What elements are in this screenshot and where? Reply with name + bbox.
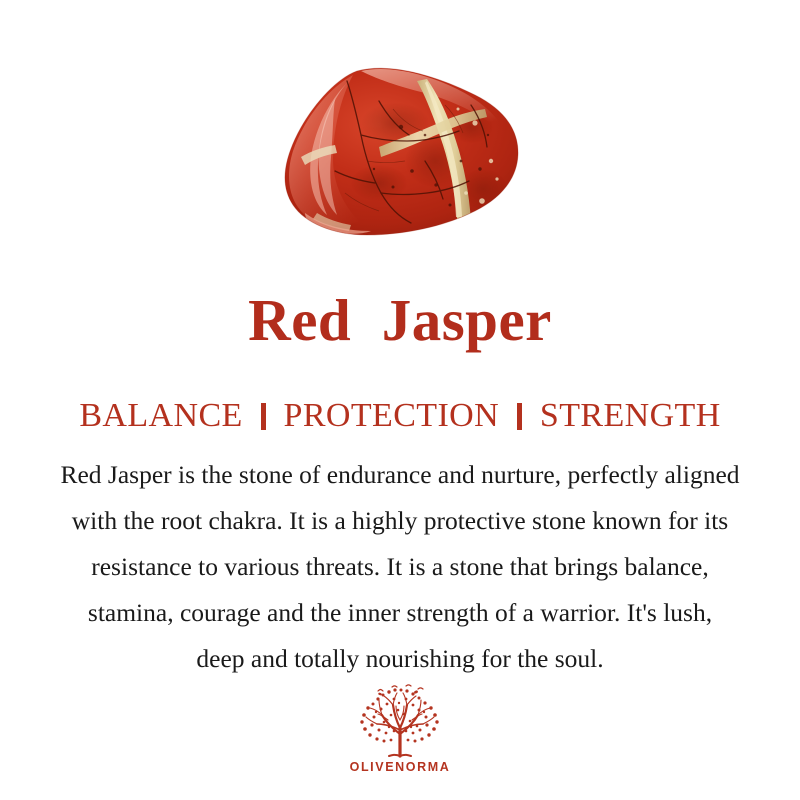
description-line: with the root chakra. It is a highly pro… — [14, 498, 786, 544]
keyword-protection: PROTECTION — [284, 397, 500, 434]
description-line: resistance to various threats. It is a s… — [14, 544, 786, 590]
description-line: Red Jasper is the stone of endurance and… — [14, 452, 786, 498]
tree-of-life-icon — [354, 684, 446, 758]
description-line: deep and totally nourishing for the soul… — [14, 636, 786, 682]
description-paragraph: Red Jasper is the stone of endurance and… — [14, 452, 786, 682]
stone-body — [275, 65, 525, 240]
keyword-separator — [517, 403, 522, 430]
brand-logo: OLIVENORMA — [0, 684, 800, 774]
red-jasper-stone-image — [275, 65, 525, 240]
page-title: Red Jasper — [0, 288, 800, 352]
keyword-strength: STRENGTH — [540, 397, 721, 434]
keyword-balance: BALANCE — [79, 397, 242, 434]
product-info-card: Red Jasper BALANCE PROTECTION STRENGTH R… — [0, 0, 800, 800]
brand-wordmark: OLIVENORMA — [350, 760, 451, 774]
product-image-container — [0, 62, 800, 242]
keyword-separator — [261, 403, 266, 430]
description-line: stamina, courage and the inner strength … — [14, 590, 786, 636]
keyword-list: BALANCE PROTECTION STRENGTH — [0, 396, 800, 436]
